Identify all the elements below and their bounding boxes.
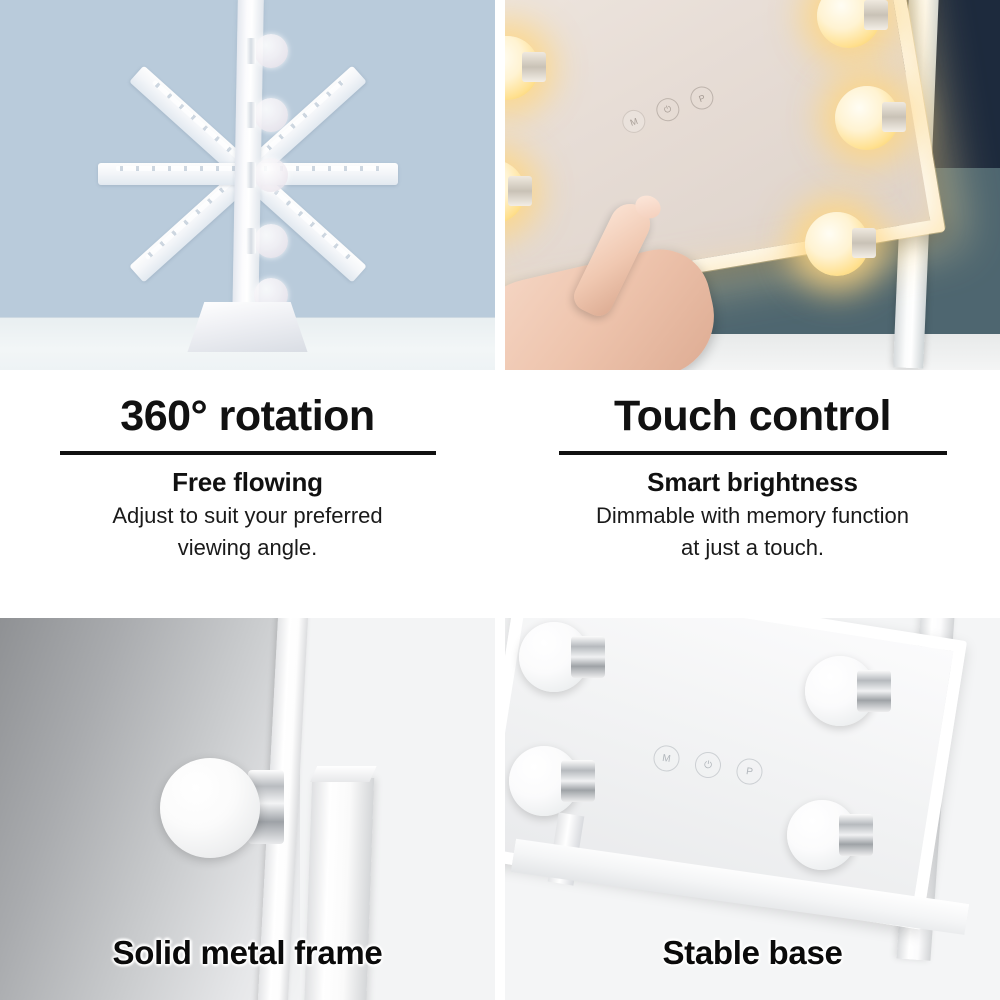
bulb-cap [857,670,891,712]
ghost-bulb [254,34,288,68]
ghost-bulb-cap [246,102,256,128]
caption-solid-metal-frame: Solid metal frame [0,934,495,972]
headline-rotation: 360° rotation [0,394,495,439]
metal-frame-photo-panel: Solid metal frame [0,618,495,1000]
bulb-cap [882,102,906,132]
light-bulb [805,656,875,726]
horizontal-divider [0,608,1000,618]
bulb-cap [852,228,876,258]
headline-rule [559,451,947,455]
memory-button[interactable]: M [652,744,682,774]
ghost-bulb-cap [246,162,256,188]
light-bulb [805,212,869,276]
light-bulb [787,800,857,870]
bulb-cap [571,636,605,678]
ghost-bulb [254,98,288,132]
power-button[interactable]: ⏻ [653,95,682,124]
light-bulb [835,86,899,150]
bulb-cap [864,0,888,30]
ghost-bulb [254,158,288,192]
feature-text-left: 360° rotation Free flowing Adjust to sui… [0,378,495,608]
feature-text-right: Touch control Smart brightness Dimmable … [505,378,1000,608]
bulb-cap [561,760,595,802]
ghost-bulb-cap [246,38,256,64]
rotation-photo-panel [0,0,495,370]
stable-base-photo-panel: M ⏻ P Stable base [505,618,1000,1000]
description-touch-line2: at just a touch. [505,534,1000,562]
power-button[interactable]: ⏻ [693,750,723,780]
bulb-cap [522,52,546,82]
headline-rule [60,451,436,455]
caption-stable-base: Stable base [505,934,1000,972]
product-feature-collage: M ⏻ P 360° rotation Free flowing Adjust … [0,0,1000,1000]
description-rotation-line2: viewing angle. [0,534,495,562]
base-plate [188,302,308,352]
light-bulb [509,746,579,816]
subhead-rotation: Free flowing [0,467,495,498]
headline-touch: Touch control [505,394,1000,439]
light-bulb [160,758,260,858]
vertical-divider [495,0,505,1000]
bulb-cap [839,814,873,856]
preset-button[interactable]: P [735,757,765,787]
memory-button[interactable]: M [619,107,648,136]
description-rotation-line1: Adjust to suit your preferred [0,502,495,530]
ghost-bulb [254,224,288,258]
subhead-touch: Smart brightness [505,467,1000,498]
touch-control-panel[interactable]: M ⏻ P [619,83,716,136]
description-touch-line1: Dimmable with memory function [505,502,1000,530]
post-top-face [310,766,377,782]
preset-button[interactable]: P [687,83,716,112]
light-bulb [519,622,589,692]
touch-photo-panel: M ⏻ P [505,0,1000,370]
hand [505,196,755,370]
ghost-bulb-cap [246,228,256,254]
